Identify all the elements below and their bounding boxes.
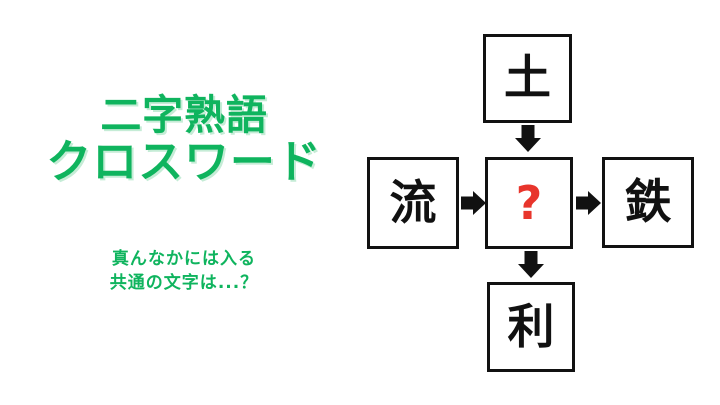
page-subtitle: 真んなかには入る 共通の文字は...？ (0, 247, 368, 295)
puzzle-cell-top-glyph: 土 (504, 55, 551, 102)
arrow-right-icon-left-to-center (461, 189, 487, 217)
arrow-head (588, 191, 601, 215)
title-line-1: 二字熟語 (0, 94, 368, 138)
question-mark-icon: ? (516, 180, 543, 226)
arrow-head (518, 264, 544, 278)
puzzle-cell-right-glyph: 鉄 (625, 179, 672, 226)
arrow-head (473, 191, 486, 215)
subtitle-line-2: 共通の文字は...？ (0, 271, 368, 295)
puzzle-cell-top: 土 (483, 34, 572, 123)
arrow-shaft (576, 197, 588, 210)
page-title: 二字熟語 クロスワード (0, 94, 368, 186)
puzzle-cell-right: 鉄 (602, 157, 694, 248)
arrow-down-icon-top-to-center (501, 125, 555, 153)
puzzle-cell-bottom-glyph: 利 (508, 304, 555, 351)
arrow-right-icon-center-to-right (576, 189, 602, 217)
puzzle-canvas: 二字熟語 クロスワード 真んなかには入る 共通の文字は...？ 土 流 ? 鉄 … (0, 0, 720, 405)
arrow-shaft (522, 125, 535, 138)
arrow-down-icon-center-to-bottom (504, 251, 558, 279)
title-line-2: クロスワード (0, 138, 368, 186)
puzzle-cell-left-glyph: 流 (390, 180, 437, 227)
arrow-shaft (525, 251, 538, 264)
puzzle-cell-left: 流 (367, 157, 459, 249)
arrow-shaft (461, 197, 473, 210)
subtitle-line-1: 真んなかには入る (0, 247, 368, 271)
puzzle-cell-center[interactable]: ? (485, 157, 573, 249)
arrow-head (515, 138, 541, 152)
puzzle-cell-bottom: 利 (487, 282, 575, 372)
